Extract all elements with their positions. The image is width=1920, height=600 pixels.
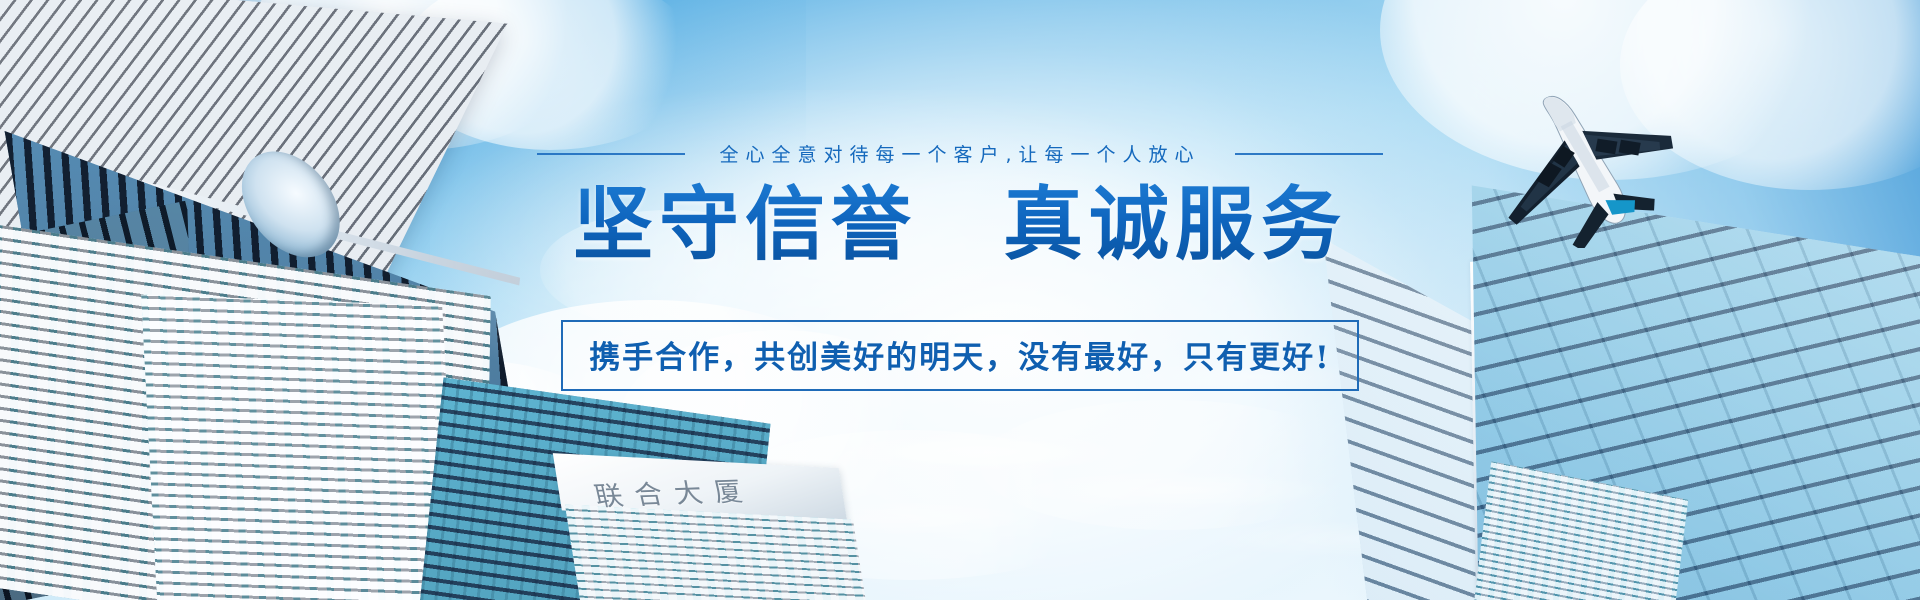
rule-left-icon	[537, 153, 685, 155]
building-window-grid	[1472, 461, 1688, 600]
wispy-cloud	[830, 430, 1130, 474]
banner-headline: 坚守信誉 真诚服务	[0, 180, 1920, 270]
building-sign-text: 联合大厦	[590, 470, 758, 514]
banner-subtitle: 携手合作，共创美好的明天，没有最好，只有更好!	[561, 320, 1359, 391]
subtitle-wrap: 携手合作，共创美好的明天，没有最好，只有更好!	[0, 320, 1920, 391]
hero-banner: 联合大厦	[0, 0, 1920, 600]
tagline-row: 全心全意对待每一个客户,让每一个人放心	[0, 140, 1920, 167]
building-right-midrise	[1470, 479, 1691, 600]
building-window-grid	[565, 505, 875, 600]
wispy-cloud	[1000, 470, 1340, 510]
rule-right-icon	[1235, 153, 1383, 155]
banner-tagline: 全心全意对待每一个客户,让每一个人放心	[719, 140, 1200, 167]
